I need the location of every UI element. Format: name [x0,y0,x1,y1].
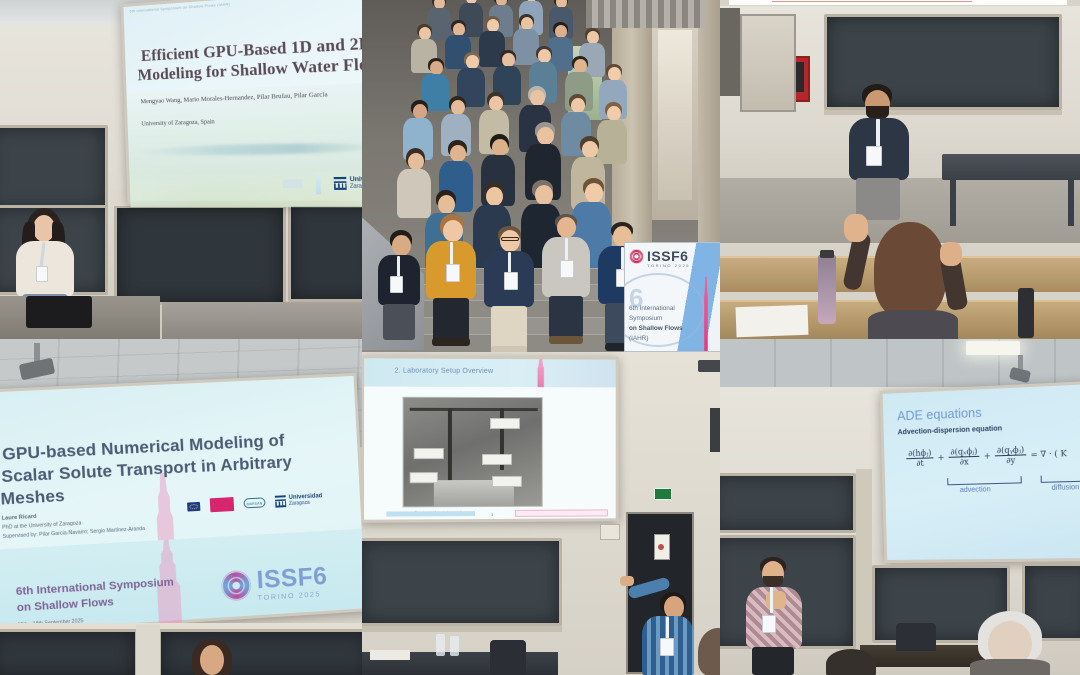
door-sign-small [658,544,664,550]
audience-person-raising-hand [840,218,990,339]
eq-plus-1: + [937,453,944,462]
audience-person-white-hair [970,611,1050,675]
slide-title-line3: Meshes [0,486,65,510]
blackboard-left-upper [0,125,108,213]
audience-person-5 [698,628,720,675]
torso [868,310,958,339]
projection-screen-4: GPU-based Numerical Modeling of Scalar S… [0,373,362,635]
eq-term-y: ∂(qᵧϕⱼ) ∂y [995,445,1027,466]
brace-diffusion [1041,474,1080,483]
banner-issf6-wordmark: ISSF6 [647,248,688,264]
callout-label [410,472,438,483]
exit-sign [654,488,672,500]
lecture-hall-scene-6: ADE equations Advection-dispersion equat… [720,339,1080,675]
group-member-front [482,226,536,352]
head [200,645,224,675]
uz-label: Universidad Zaragoza [350,177,362,190]
lecture-hall-scene-3 [720,0,1080,339]
projection-screen-5: 2. Laboratory Setup Overview Experiment [362,355,619,522]
marsan-logo: MARSAN [243,497,265,508]
bottle-right-3 [1018,288,1034,338]
wall-panel-5 [710,408,720,452]
issf6-wordmark: ISSF6 [256,565,328,592]
legs [491,306,527,350]
banner-issf6-logo: ISSF6 [629,248,688,264]
legs [433,298,469,342]
callout-label [490,418,520,429]
water-bottle-3 [818,254,836,324]
wall-left-dark [720,8,740,96]
slide-author: Laure Ricard [1,514,36,524]
callout-label [492,476,522,487]
slide-footer-note [515,509,608,516]
projection-screen-6: ADE equations Advection-dispersion equat… [880,380,1080,563]
banner-issf6-sub: TORINO 2025 [647,263,690,268]
banner-line4: (IAHR) [629,335,649,342]
uz-label: Universidad Zaragoza [289,494,323,507]
desk-paper-5 [370,650,410,660]
trousers [752,647,794,675]
staircase-scene: ISSF6 TORINO 2025 6 6th International Sy… [362,0,720,352]
hair-back-of-head [874,222,946,318]
desk-paper-3 [735,305,808,337]
sandals [432,338,470,346]
flume-post [448,408,452,484]
eu-flag-logo [187,501,200,511]
name-badge [866,146,882,166]
callout-label [414,448,444,459]
slide-page-number: 3 [491,512,493,517]
chalk-tray-5 [362,626,562,632]
eq-term-x: ∂(qₓϕⱼ) ∂x [948,447,980,467]
banner-line2: Symposium [629,315,662,322]
slide-header-strip: 6th International Symposium on Shallow F… [129,0,362,19]
panel-bottom-middle: 2. Laboratory Setup Overview Experiment [362,352,720,675]
wall-sign-5 [600,524,620,540]
bottle-cap-icon [820,250,834,258]
trousers [856,178,900,220]
ade-equation: ∂(hϕⱼ) ∂t + ∂(qₓϕⱼ) ∂x + ∂(qᵧϕⱼ) ∂y [906,444,1067,469]
chair-5 [490,640,526,675]
desk-bottle-5b [450,636,459,656]
panel-top-right [720,0,1080,339]
chair-6 [896,623,936,651]
shoes [549,336,583,344]
blackboard-center [114,205,286,305]
slide-title-5: 2. Laboratory Setup Overview [394,368,493,375]
name-badge [762,615,776,633]
photo-collage: 6th International Symposium on Shallow F… [0,0,1080,675]
brace-label-advection: advection [960,486,991,494]
beard [763,576,783,587]
laptop-bag [26,296,92,328]
board-frame-vertical-6 [856,469,872,651]
ceiling-lamp-left [966,341,1020,355]
lectern-1 [162,302,362,339]
hair [698,628,720,675]
slide-logo-row-4: MARSAN Universidad Zaragoza [187,492,323,513]
slide-scalar-solute-transport: GPU-based Numerical Modeling of Scalar S… [0,376,362,632]
universidad-zaragoza-logo-4: Universidad Zaragoza [275,493,323,507]
ceiling-camera-5 [698,360,720,372]
slide-subtitle-6: Advection-dispersion equation [898,425,1003,436]
name-badge [660,638,674,656]
clasped-hands [766,591,786,609]
panel-top-left: 6th International Symposium on Shallow F… [0,0,362,339]
panel-bottom-right: ADE equations Advection-dispersion equat… [720,339,1080,675]
callout-label [482,454,512,465]
blackboard-left-upper-6 [720,473,856,533]
eq-rhs: = ∇ · ( K [1030,449,1067,460]
slide-title-6: ADE equations [897,406,982,424]
issf-spiral-icon [629,249,644,264]
legs [383,304,415,340]
issf-spiral-icon [221,570,252,602]
shoulders [970,659,1050,675]
blackboard-lower-left-4 [0,629,138,675]
pointing-hand [620,576,634,586]
banner-line1: 6th International [629,305,675,312]
lanyard [876,119,880,149]
hair [826,649,876,675]
speaker-person-3 [846,84,912,220]
lecture-hall-scene-5: 2. Laboratory Setup Overview Experiment [362,352,720,675]
eq-term-time: ∂(hϕⱼ) ∂t [906,448,934,468]
brace-advection [947,476,1022,485]
lecture-hall-scene-4: GPU-based Numerical Modeling of Scalar S… [0,339,362,675]
door-frame-3 [740,14,796,112]
board-divider-4 [136,625,160,675]
slide-logo-row-1: Universidad Zaragoza [282,172,362,195]
issf6-rollup-banner: ISSF6 TORINO 2025 6 6th International Sy… [624,242,720,352]
right-hand [940,242,962,266]
name-badge [36,266,48,282]
legs [549,296,583,338]
slide-footer-bar [386,511,475,516]
lanyard [770,587,773,613]
projection-screen-1: 6th International Symposium on Shallow F… [120,0,362,204]
group-member-front [376,230,422,340]
raised-hand [844,214,868,242]
eq-plus-2: + [984,451,991,460]
glasses-icon [501,237,519,241]
lecture-hall-scene-1: 6th International Symposium on Shallow F… [0,0,362,339]
audience-person-4 [184,639,240,675]
screen-red-line [772,1,972,2]
slide-efficient-gpu: 6th International Symposium on Shallow F… [123,0,362,201]
group-member-front [540,214,592,346]
blackboard-right [288,200,362,302]
group-member-front [424,214,478,346]
slide-issf6-logo: ISSF6 TORINO 2025 [221,565,329,604]
banner-line3: on Shallow Flows [629,325,683,332]
uz-crest-icon [275,495,286,507]
desk-bottle-5 [436,634,445,656]
panel-top-middle-group-photo: ISSF6 TORINO 2025 6 6th International Sy… [362,0,720,352]
uz-crest-icon [334,177,347,190]
audience-person-6b [820,649,882,675]
speaker-person-6 [744,557,806,675]
sponsor-logo-faint [283,179,303,188]
brace-label-diffusion: diffusion [1051,484,1079,492]
desk-leg-3b [1068,178,1074,226]
blackboard-5 [362,538,562,626]
slide-laboratory-setup: 2. Laboratory Setup Overview Experiment [364,358,616,519]
presenter-person-5 [634,578,700,675]
flume-rail-top [410,408,538,411]
sponsor-pink-logo [210,497,234,512]
panel-bottom-left: GPU-based Numerical Modeling of Scalar S… [0,339,362,675]
universidad-zaragoza-logo-1: Universidad Zaragoza [334,176,362,189]
slide-lab-photo [403,397,543,508]
obelisk-logo-small [311,173,325,195]
slide-ade-equations: ADE equations Advection-dispersion equat… [883,384,1080,560]
teacher-desk-3 [942,154,1080,180]
